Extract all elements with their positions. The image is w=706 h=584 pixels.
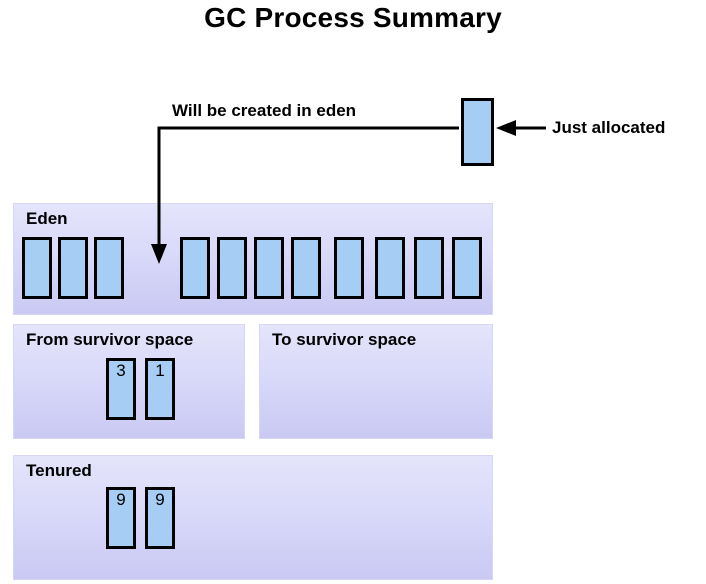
memory-block-eden[interactable] [414,237,444,299]
memory-block-tenured[interactable]: 9 [106,487,136,549]
memory-block-eden[interactable] [22,237,52,299]
region-eden-label: Eden [26,209,68,229]
annotation-will-be-created-in-eden: Will be created in eden [172,101,356,121]
memory-block-from-survivor-space[interactable]: 1 [145,358,175,420]
memory-block-eden[interactable] [334,237,364,299]
just-allocated-arrowhead-icon [496,120,516,136]
memory-block-label: 9 [148,491,172,509]
memory-block-eden[interactable] [452,237,482,299]
memory-block-tenured[interactable]: 9 [145,487,175,549]
annotation-just-allocated: Just allocated [552,118,665,138]
memory-block-eden[interactable] [254,237,284,299]
memory-block-from-survivor-space[interactable]: 3 [106,358,136,420]
region-to-survivor-space[interactable]: To survivor space [259,324,493,439]
page-title: GC Process Summary [0,2,706,34]
memory-block-eden[interactable] [94,237,124,299]
memory-block-label: 9 [109,491,133,509]
memory-block-eden[interactable] [291,237,321,299]
region-from-survivor-space-label: From survivor space [26,330,193,350]
memory-block-eden[interactable] [375,237,405,299]
region-to-survivor-space-label: To survivor space [272,330,416,350]
memory-block-eden[interactable] [58,237,88,299]
region-tenured[interactable]: Tenured [13,455,493,580]
memory-block-label: 1 [148,362,172,380]
just-allocated-block[interactable] [461,98,494,166]
memory-block-eden[interactable] [180,237,210,299]
region-tenured-label: Tenured [26,461,92,481]
memory-block-eden[interactable] [217,237,247,299]
memory-block-label: 3 [109,362,133,380]
